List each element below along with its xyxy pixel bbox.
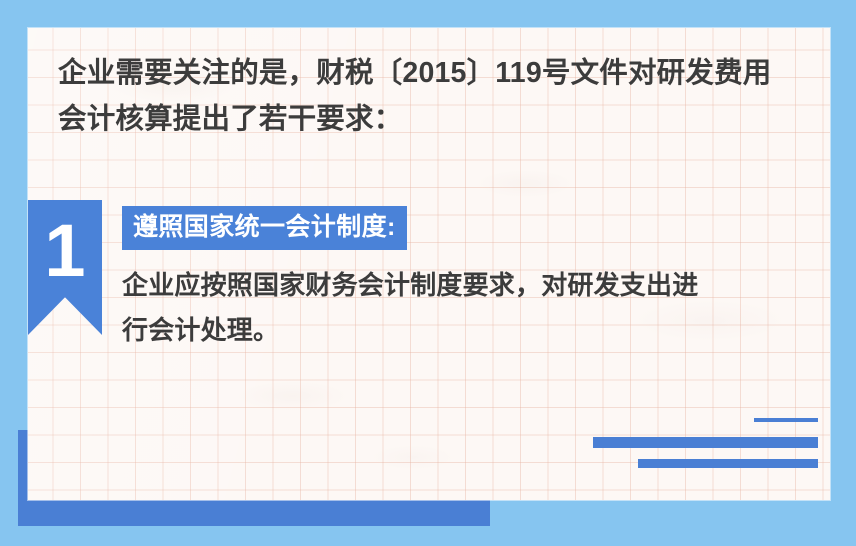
decorative-bar-thick — [593, 437, 818, 448]
headline-line-1: 企业需要关注的是，财税〔2015〕119号文件对研发费用 — [58, 50, 806, 96]
headline: 企业需要关注的是，财税〔2015〕119号文件对研发费用 会计核算提出了若干要求… — [58, 50, 806, 142]
headline-line-2: 会计核算提出了若干要求： — [58, 96, 806, 142]
item-paragraph-line-2: 行会计处理。 — [122, 308, 812, 353]
grid-paper-card: 企业需要关注的是，财税〔2015〕119号文件对研发费用 会计核算提出了若干要求… — [28, 28, 830, 500]
item-number-label: 1 — [44, 214, 85, 288]
decorative-bar-thin — [754, 418, 818, 422]
item-paragraph-line-1: 企业应按照国家财务会计制度要求，对研发支出进 — [122, 263, 812, 308]
item-body: 遵照国家统一会计制度: 企业应按照国家财务会计制度要求，对研发支出进 行会计处理… — [122, 206, 812, 353]
decorative-bar-medium — [638, 459, 818, 468]
item-number-ribbon-badge: 1 — [28, 200, 102, 335]
item-heading-chip: 遵照国家统一会计制度: — [122, 206, 407, 250]
slide-canvas: 企业需要关注的是，财税〔2015〕119号文件对研发费用 会计核算提出了若干要求… — [0, 0, 856, 546]
decorative-bars — [478, 418, 818, 468]
item-paragraph: 企业应按照国家财务会计制度要求，对研发支出进 行会计处理。 — [122, 263, 812, 353]
